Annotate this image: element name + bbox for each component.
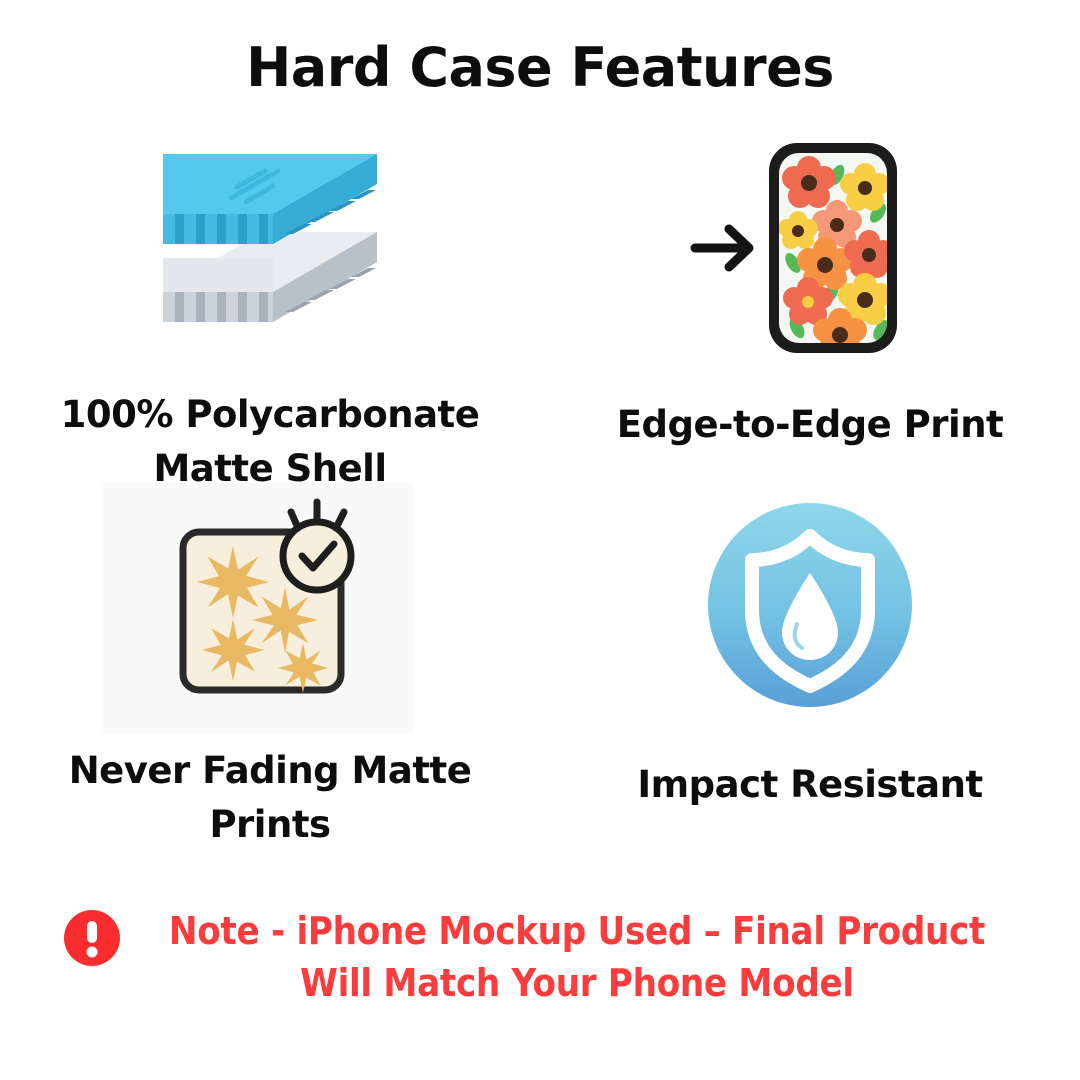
page-title: Hard Case Features [0, 36, 1080, 99]
note-text: Note - iPhone Mockup Used – Final Produc… [137, 905, 1017, 1010]
feature-label: 100% Polycarbonate Matte Shell [35, 370, 505, 495]
feature-item-polycarbonate-shell: 100% Polycarbonate Matte Shell [0, 120, 540, 495]
feature-item-never-fading-prints: Never Fading Matte Prints [0, 480, 540, 851]
layers-stack-icon [0, 120, 540, 370]
feature-label: Never Fading Matte Prints [35, 730, 505, 851]
exclamation-circle-icon [63, 909, 121, 967]
feature-label: Impact Resistant [575, 730, 1045, 812]
sparkle-quality-check-icon [0, 480, 540, 730]
phone-case-floral-print-icon [540, 120, 1080, 370]
feature-infographic: Hard Case Features [0, 0, 1080, 1080]
note-banner: Note - iPhone Mockup Used – Final Produc… [0, 905, 1080, 1010]
feature-item-edge-to-edge-print: Edge-to-Edge Print [540, 120, 1080, 452]
arrow-right-icon [695, 229, 749, 267]
shield-droplet-icon [540, 480, 1080, 730]
feature-grid: 100% Polycarbonate Matte Shell [0, 120, 1080, 880]
feature-label: Edge-to-Edge Print [575, 370, 1045, 452]
feature-item-impact-resistant: Impact Resistant [540, 480, 1080, 812]
